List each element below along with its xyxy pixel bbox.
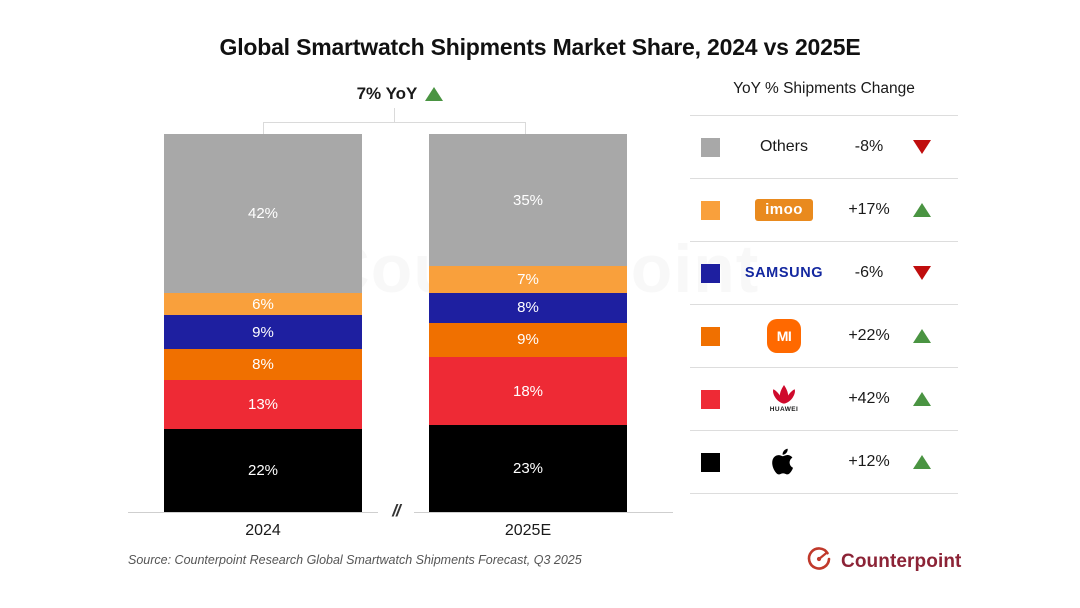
source-note: Source: Counterpoint Research Global Sma…	[128, 553, 582, 567]
legend-color-swatch	[701, 327, 720, 346]
legend-brand-mi: MI	[730, 319, 838, 353]
segment-value-label: 42%	[248, 205, 278, 222]
segment-value-label: 6%	[252, 296, 274, 313]
arrow-up-icon	[913, 455, 931, 469]
counterpoint-mark-icon	[806, 546, 832, 577]
legend-row[interactable]: +12%	[690, 430, 958, 494]
segment-value-label: 22%	[248, 462, 278, 479]
segment-value-label: 13%	[248, 396, 278, 413]
bar-segment-samsung: 8%	[429, 293, 627, 323]
legend-trend-arrow	[900, 455, 944, 469]
huawei-wordmark: HUAWEI	[770, 407, 798, 414]
bar-segment-others: 35%	[429, 134, 627, 266]
segment-value-label: 9%	[252, 324, 274, 341]
legend-panel: YoY % Shipments Change Others-8%imoo+17%…	[690, 80, 958, 494]
bar-segment-huawei: 13%	[164, 380, 362, 429]
legend-row[interactable]: imoo+17%	[690, 178, 958, 241]
samsung-logo-icon: SAMSUNG	[745, 265, 823, 281]
segment-value-label: 18%	[513, 383, 543, 400]
bar-segment-samsung: 9%	[164, 315, 362, 349]
chart-container: Counterpoint Global Smartwatch Shipments…	[0, 0, 1080, 608]
arrow-up-icon	[425, 87, 443, 101]
legend-title: YoY % Shipments Change	[690, 80, 958, 115]
legend-color-swatch	[701, 138, 720, 157]
legend-rows: Others-8%imoo+17%SAMSUNG-6%MI+22%HUAWEI+…	[690, 115, 958, 494]
legend-row[interactable]: Others-8%	[690, 115, 958, 178]
legend-trend-arrow	[900, 329, 944, 343]
legend-brand-others: Others	[730, 138, 838, 156]
legend-row[interactable]: SAMSUNG-6%	[690, 241, 958, 304]
bar-segment-imoo: 6%	[164, 293, 362, 316]
counterpoint-wordmark: Counterpoint	[841, 551, 961, 573]
legend-brand-huawei: HUAWEI	[730, 384, 838, 414]
apple-logo-icon	[771, 447, 797, 477]
bar-segment-others: 42%	[164, 134, 362, 293]
legend-brand-apple	[730, 447, 838, 477]
x-tick-2024: 2024	[163, 522, 363, 540]
legend-brand-samsung: SAMSUNG	[730, 265, 838, 281]
legend-trend-arrow	[900, 203, 944, 217]
bar-segment-imoo: 7%	[429, 266, 627, 292]
huawei-petal-icon	[769, 384, 799, 406]
segment-value-label: 23%	[513, 460, 543, 477]
segment-value-label: 35%	[513, 192, 543, 209]
legend-change-value: +12%	[838, 453, 900, 471]
bar-segment-xiaomi: 9%	[429, 323, 627, 357]
legend-change-value: -8%	[838, 138, 900, 156]
bar-2025e: 35%7%8%9%18%23%	[429, 134, 627, 512]
arrow-down-icon	[913, 140, 931, 154]
legend-brand-imoo: imoo	[730, 199, 838, 221]
total-yoy-annotation: 7% YoY	[270, 84, 530, 104]
plot-area: 42%6%9%8%13%22% 35%7%8%9%18%23%	[128, 134, 668, 512]
legend-color-swatch	[701, 201, 720, 220]
xiaomi-logo-icon: MI	[767, 319, 801, 353]
apple-logo-icon	[771, 447, 797, 477]
page-title: Global Smartwatch Shipments Market Share…	[0, 34, 1080, 61]
legend-brand-label: Others	[760, 138, 808, 156]
legend-color-swatch	[701, 264, 720, 283]
legend-trend-arrow	[900, 266, 944, 280]
bar-segment-apple: 23%	[429, 425, 627, 512]
segment-value-label: 8%	[252, 356, 274, 373]
legend-color-swatch	[701, 390, 720, 409]
bar-2024: 42%6%9%8%13%22%	[164, 134, 362, 512]
segment-value-label: 7%	[517, 271, 539, 288]
arrow-up-icon	[913, 392, 931, 406]
huawei-logo-icon: HUAWEI	[769, 384, 799, 414]
total-yoy-label: 7% YoY	[357, 84, 418, 104]
arrow-up-icon	[913, 203, 931, 217]
legend-row[interactable]: MI+22%	[690, 304, 958, 367]
bar-segment-apple: 22%	[164, 429, 362, 512]
bracket-stem	[394, 108, 395, 123]
segment-value-label: 8%	[517, 299, 539, 316]
axis-break-icon: //	[378, 498, 414, 524]
legend-change-value: +17%	[838, 201, 900, 219]
x-tick-2025e: 2025E	[428, 522, 628, 540]
bar-segment-xiaomi: 8%	[164, 349, 362, 379]
legend-change-value: -6%	[838, 264, 900, 282]
imoo-logo-icon: imoo	[755, 199, 813, 221]
legend-color-swatch	[701, 453, 720, 472]
legend-trend-arrow	[900, 392, 944, 406]
legend-change-value: +42%	[838, 390, 900, 408]
arrow-down-icon	[913, 266, 931, 280]
legend-row[interactable]: HUAWEI+42%	[690, 367, 958, 430]
counterpoint-logo: Counterpoint	[806, 546, 961, 577]
legend-trend-arrow	[900, 140, 944, 154]
segment-value-label: 9%	[517, 331, 539, 348]
legend-change-value: +22%	[838, 327, 900, 345]
bar-segment-huawei: 18%	[429, 357, 627, 425]
arrow-up-icon	[913, 329, 931, 343]
